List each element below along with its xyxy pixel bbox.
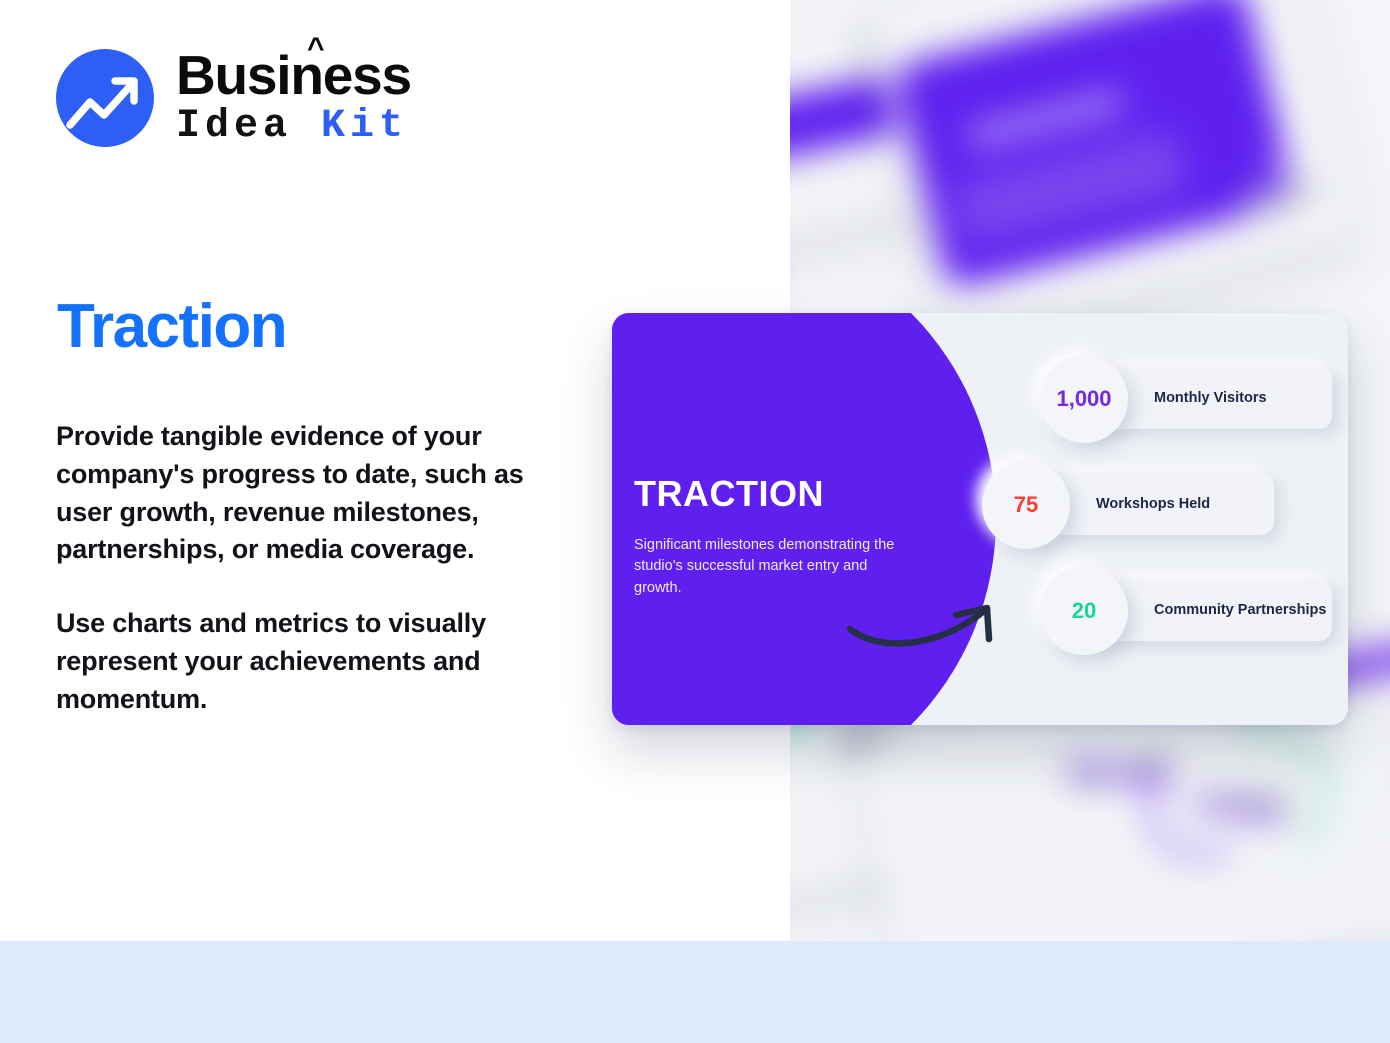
metric-label: Community Partnerships	[1154, 601, 1326, 620]
background-dot	[1265, 155, 1291, 181]
metric-value: 20	[1072, 598, 1096, 624]
metric-row[interactable]: Community Partnerships 20	[1040, 567, 1332, 655]
page-title: Traction	[57, 296, 286, 358]
brand-name-line2: Idea Kit	[176, 107, 411, 147]
metric-row[interactable]: Workshops Held 75	[982, 461, 1274, 549]
metrics-list: Monthly Visitors 1,000 Workshops Held 75…	[1040, 355, 1332, 655]
brand-name-line1: Business ^	[176, 48, 411, 103]
metric-value: 1,000	[1056, 386, 1111, 412]
brand-name-line1-text: Business	[176, 44, 411, 106]
curved-arrow-up-right-icon	[844, 595, 1014, 657]
bottom-accent-bar	[0, 941, 1390, 1043]
description-paragraph-2: Use charts and metrics to visually repre…	[56, 605, 566, 718]
brand-logo[interactable]: Business ^ Idea Kit	[56, 48, 411, 147]
growth-chart-circle-icon	[56, 49, 154, 147]
metric-label: Monthly Visitors	[1154, 389, 1267, 408]
metric-value-bubble: 75	[982, 461, 1070, 549]
metric-label: Workshops Held	[1096, 495, 1210, 514]
slide-subtitle: Significant milestones demonstrating the…	[634, 535, 902, 599]
metric-value: 75	[1014, 492, 1038, 518]
page-description: Provide tangible evidence of your compan…	[56, 418, 566, 719]
brand-name-kit: Kit	[321, 104, 408, 149]
slide-preview-page: Business ^ Idea Kit Traction Provide tan…	[0, 0, 1390, 1043]
metric-value-bubble: 20	[1040, 567, 1128, 655]
circumflex-accent-icon: ^	[307, 34, 323, 64]
brand-name-idea: Idea	[176, 104, 292, 149]
metric-row[interactable]: Monthly Visitors 1,000	[1040, 355, 1332, 443]
description-paragraph-1: Provide tangible evidence of your compan…	[56, 418, 566, 569]
brand-wordmark: Business ^ Idea Kit	[176, 48, 411, 147]
traction-slide-card[interactable]: TRACTION Significant milestones demonstr…	[612, 313, 1348, 725]
slide-heading: TRACTION	[634, 476, 824, 512]
metric-value-bubble: 1,000	[1040, 355, 1128, 443]
slide-accent-blob	[612, 313, 996, 725]
